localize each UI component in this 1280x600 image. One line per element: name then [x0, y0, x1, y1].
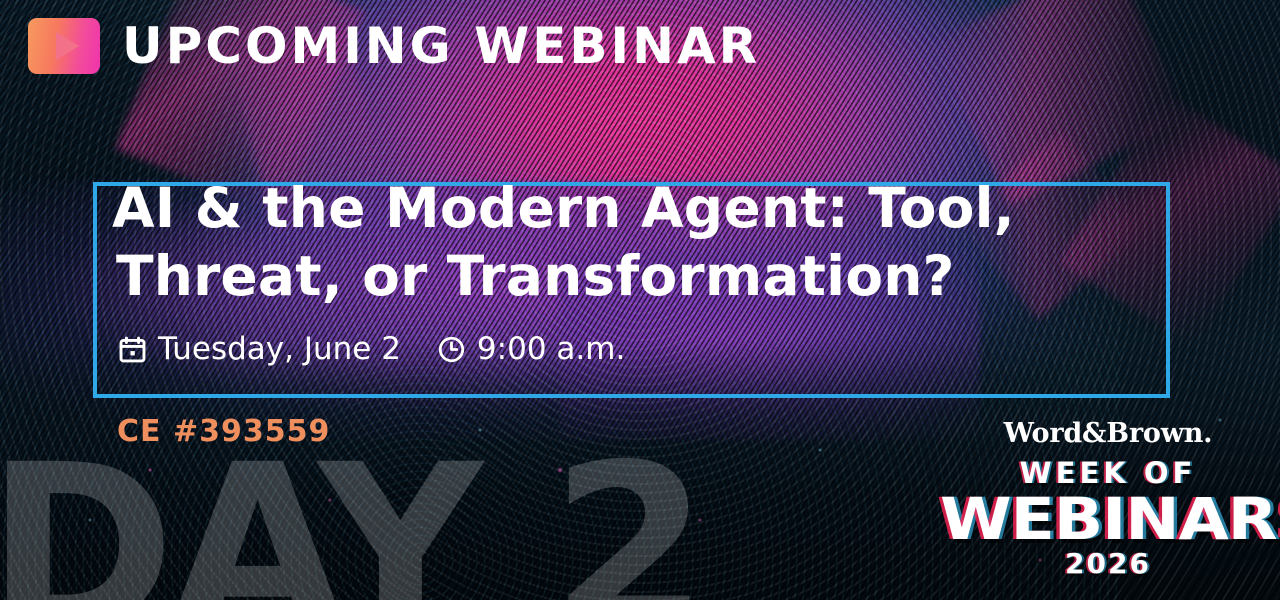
series-top-label: WEEK OF	[958, 459, 1258, 488]
webinar-promo-banner: DAY 2 UPCOMING WEBINAR AI & the Modern A…	[0, 0, 1280, 600]
eyebrow-label: UPCOMING WEBINAR	[122, 21, 760, 71]
event-time: 9:00 a.m.	[437, 334, 625, 365]
series-year-label: 2026	[958, 550, 1258, 578]
event-time-text: 9:00 a.m.	[477, 334, 625, 365]
title-line-1: AI & the Modern Agent: Tool,	[112, 176, 1015, 240]
page-title: AI & the Modern Agent: Tool, Threat, or …	[112, 174, 1172, 310]
series-main-label: WEBINARS	[940, 490, 1276, 548]
week-of-webinars-logo: WEEK OF WEBINARS 2026	[958, 459, 1258, 578]
play-triangle-icon	[56, 32, 79, 60]
event-date-text: Tuesday, June 2	[158, 334, 401, 365]
clock-icon	[437, 335, 466, 364]
title-line-2: Threat, or Transformation?	[116, 242, 1172, 310]
company-logo: Word&Brown.	[958, 420, 1258, 447]
event-date: Tuesday, June 2	[118, 334, 401, 365]
event-meta: Tuesday, June 2 9:00 a.m.	[118, 334, 625, 365]
brand-block: Word&Brown. WEEK OF WEBINARS 2026	[958, 420, 1258, 578]
banner-header: UPCOMING WEBINAR	[28, 18, 760, 74]
play-icon-inner	[36, 26, 92, 66]
ce-number: CE #393559	[117, 417, 330, 447]
play-icon	[28, 18, 100, 74]
calendar-icon	[118, 335, 147, 364]
